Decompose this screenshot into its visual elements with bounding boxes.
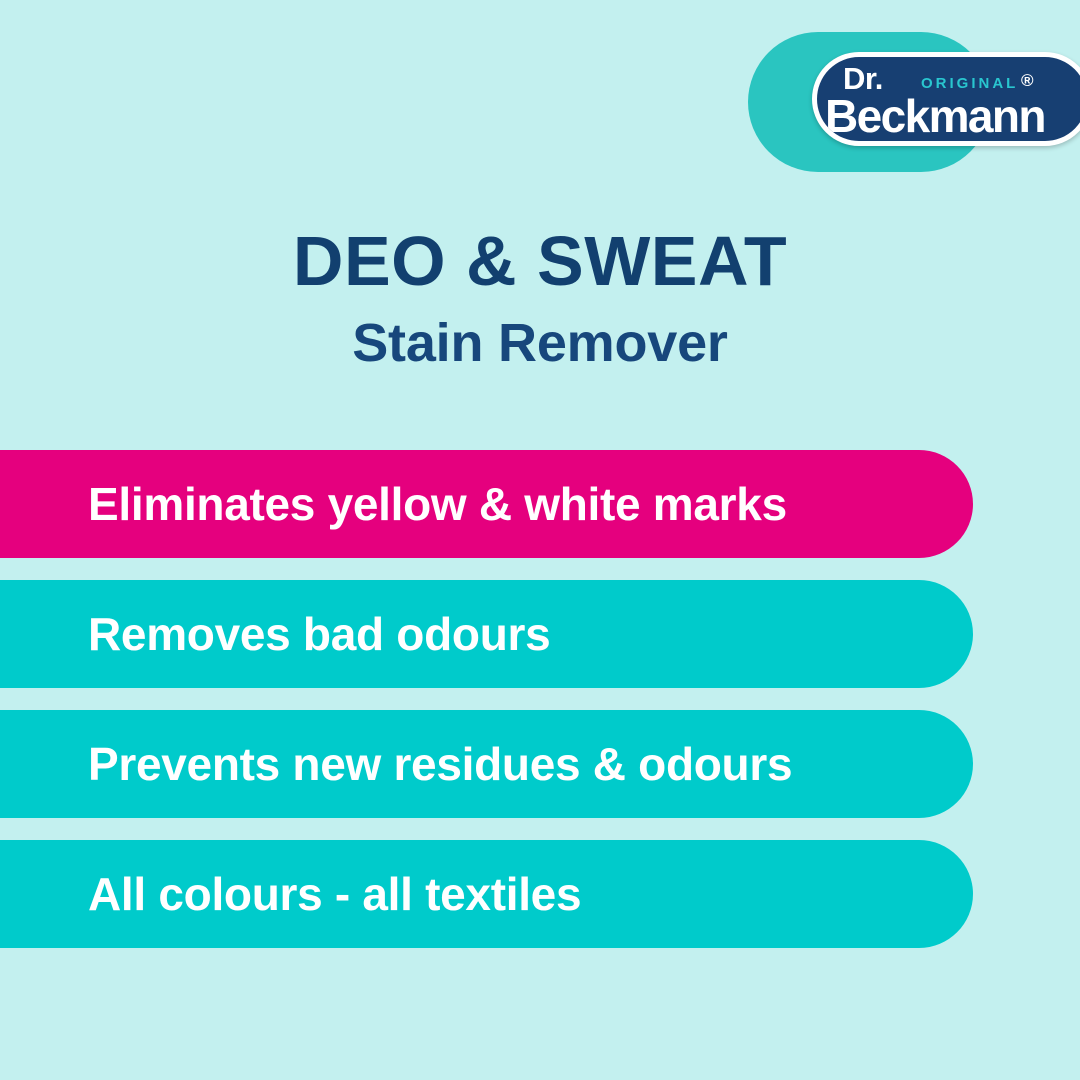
- brand-logo: Dr. ORIGINAL ® Beckmann: [748, 30, 1080, 175]
- page-subtitle: Stain Remover: [0, 312, 1080, 374]
- benefit-banner-1: Eliminates yellow & white marks: [0, 450, 973, 558]
- benefit-label: Eliminates yellow & white marks: [0, 477, 787, 531]
- logo-badge: Dr. ORIGINAL ® Beckmann: [812, 52, 1080, 146]
- benefit-label: All colours - all textiles: [0, 867, 581, 921]
- benefit-banner-4: All colours - all textiles: [0, 840, 973, 948]
- benefit-label: Removes bad odours: [0, 607, 550, 661]
- product-feature-card: Dr. ORIGINAL ® Beckmann DEO & SWEAT Stai…: [0, 0, 1080, 1080]
- benefit-label: Prevents new residues & odours: [0, 737, 792, 791]
- benefit-banner-3: Prevents new residues & odours: [0, 710, 973, 818]
- logo-beckmann-text: Beckmann: [825, 90, 1045, 142]
- registered-trademark-icon: ®: [1021, 71, 1034, 91]
- benefit-banner-2: Removes bad odours: [0, 580, 973, 688]
- page-title: DEO & SWEAT: [0, 222, 1080, 300]
